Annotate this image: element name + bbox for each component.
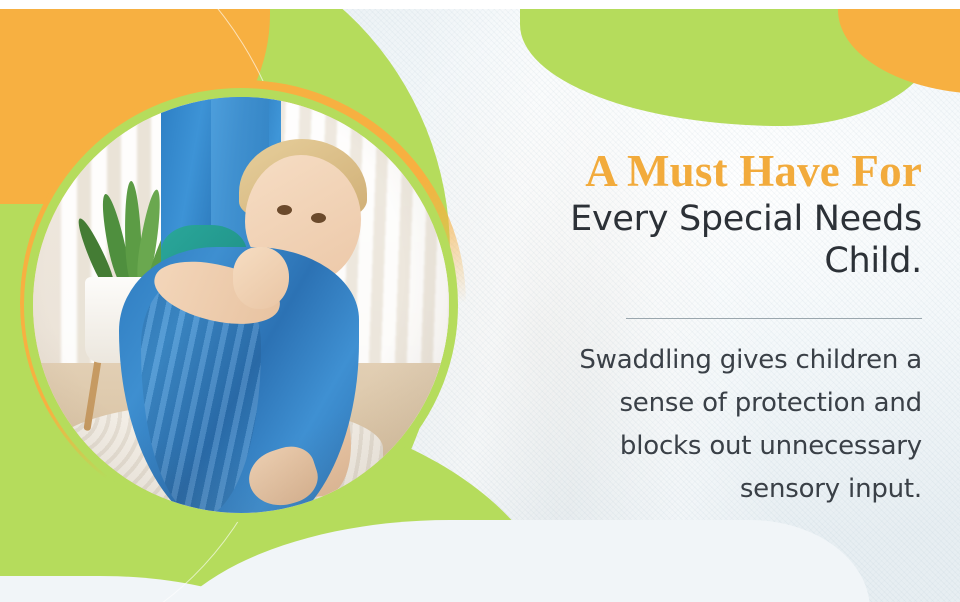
- marketing-copy-column: A Must Have For Every Special Needs Chil…: [518, 146, 922, 511]
- top-white-strip: [0, 0, 960, 9]
- headline-divider: [626, 318, 922, 319]
- body-copy-line-1: Swaddling gives children a: [518, 339, 922, 382]
- promotional-banner: A Must Have For Every Special Needs Chil…: [0, 0, 960, 602]
- lifestyle-photo: [33, 97, 449, 513]
- headline-main-line-2: Child.: [518, 240, 922, 282]
- headline-main-line-1: Every Special Needs: [518, 198, 922, 240]
- photo-vignette: [33, 97, 449, 513]
- body-copy: Swaddling gives children a sense of prot…: [518, 339, 922, 511]
- body-copy-line-2: sense of protection and: [518, 382, 922, 425]
- body-copy-line-3: blocks out unnecessary: [518, 425, 922, 468]
- product-photo-circle: [24, 88, 458, 522]
- body-copy-line-4: sensory input.: [518, 468, 922, 511]
- headline-accent: A Must Have For: [518, 146, 922, 196]
